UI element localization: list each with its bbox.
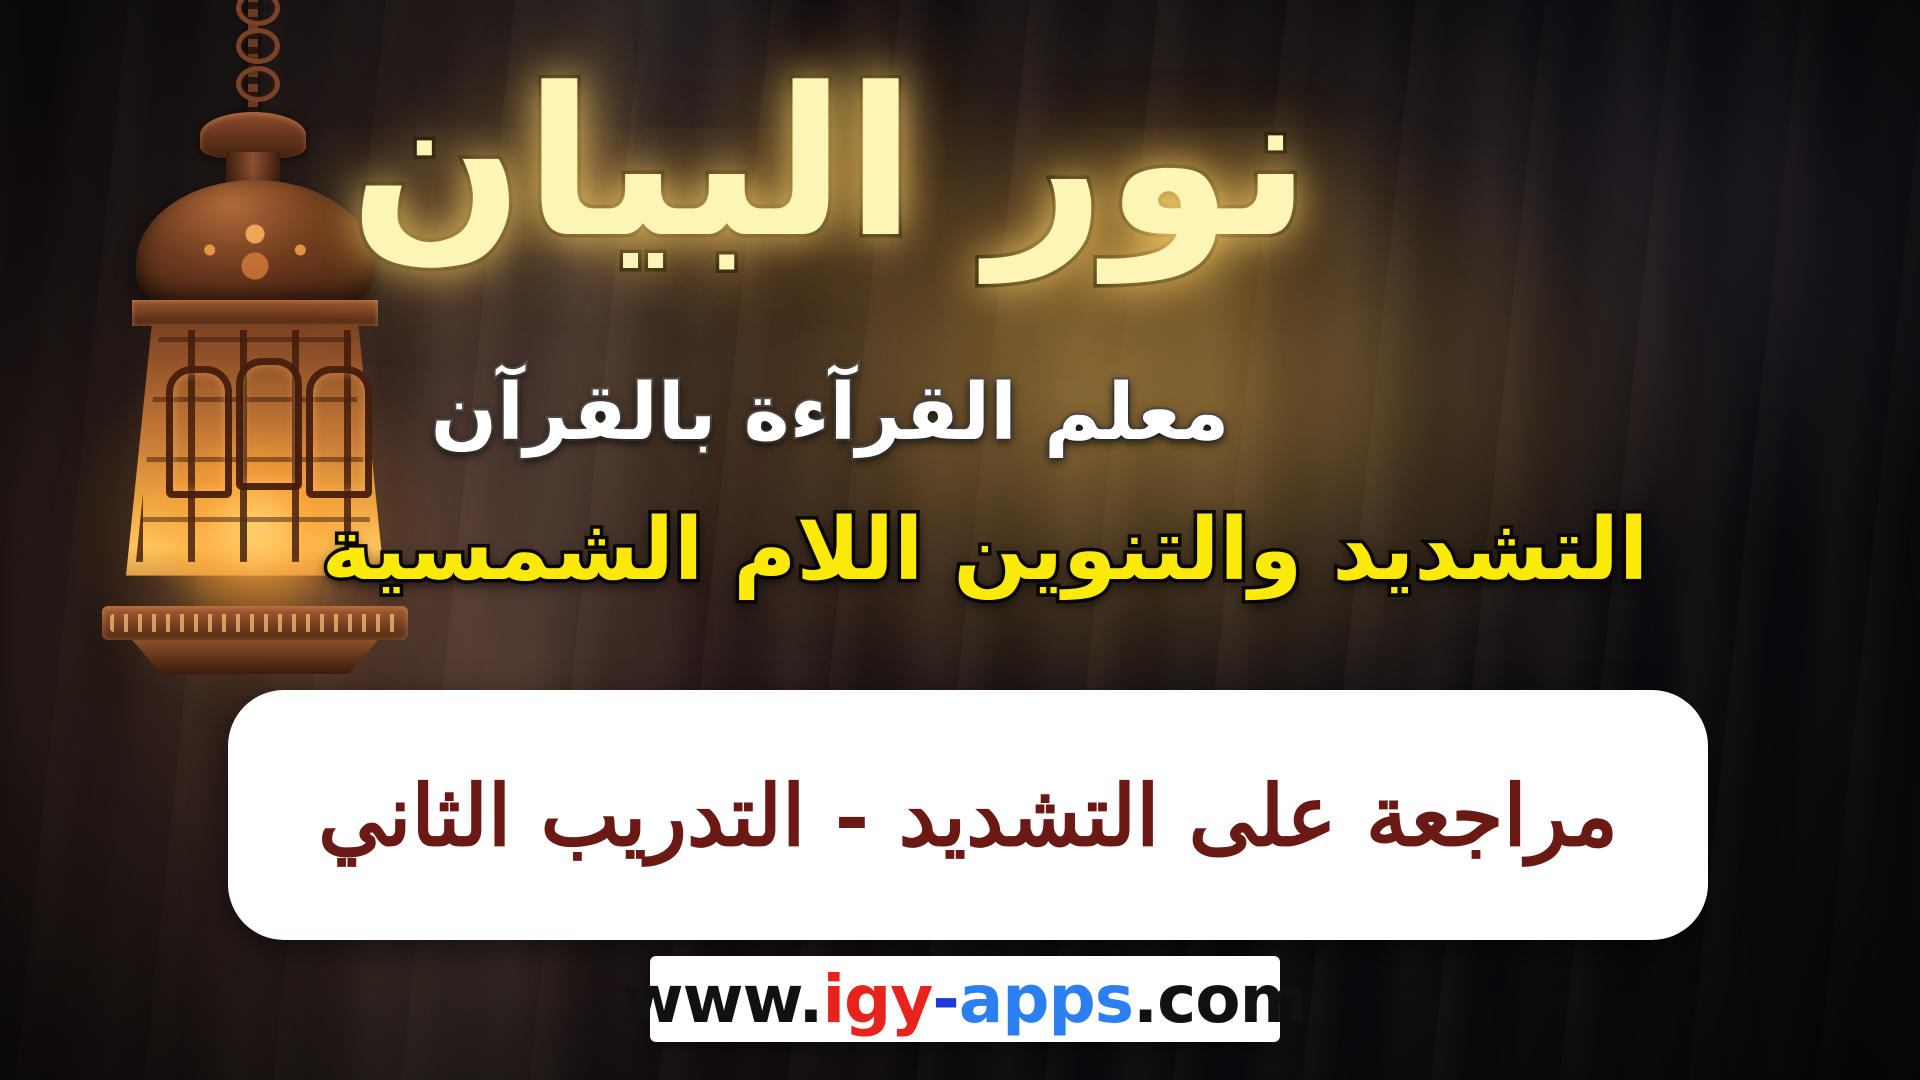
website-url-badge[interactable]: www. igy - apps .com xyxy=(650,956,1280,1042)
url-part-apps: apps xyxy=(959,961,1133,1038)
app-tagline: معلم القرآءة بالقرآن xyxy=(300,368,1360,458)
url-part-igy: igy xyxy=(822,961,932,1038)
app-title: نور البيان xyxy=(300,58,1360,271)
thumbnail-canvas: نور البيان معلم القرآءة بالقرآن التشديد … xyxy=(0,0,1920,1080)
text-content-layer: نور البيان معلم القرآءة بالقرآن التشديد … xyxy=(0,0,1920,1080)
url-part-com: .com xyxy=(1133,961,1307,1038)
url-part-www: www. xyxy=(623,961,823,1038)
exercise-title-text: مراجعة على التشديد - التدريب الثاني xyxy=(258,763,1678,868)
lesson-topic-heading: التشديد والتنوين اللام الشمسية xyxy=(235,500,1735,600)
url-part-dash: - xyxy=(932,961,958,1038)
exercise-title-card: مراجعة على التشديد - التدريب الثاني xyxy=(228,690,1708,940)
